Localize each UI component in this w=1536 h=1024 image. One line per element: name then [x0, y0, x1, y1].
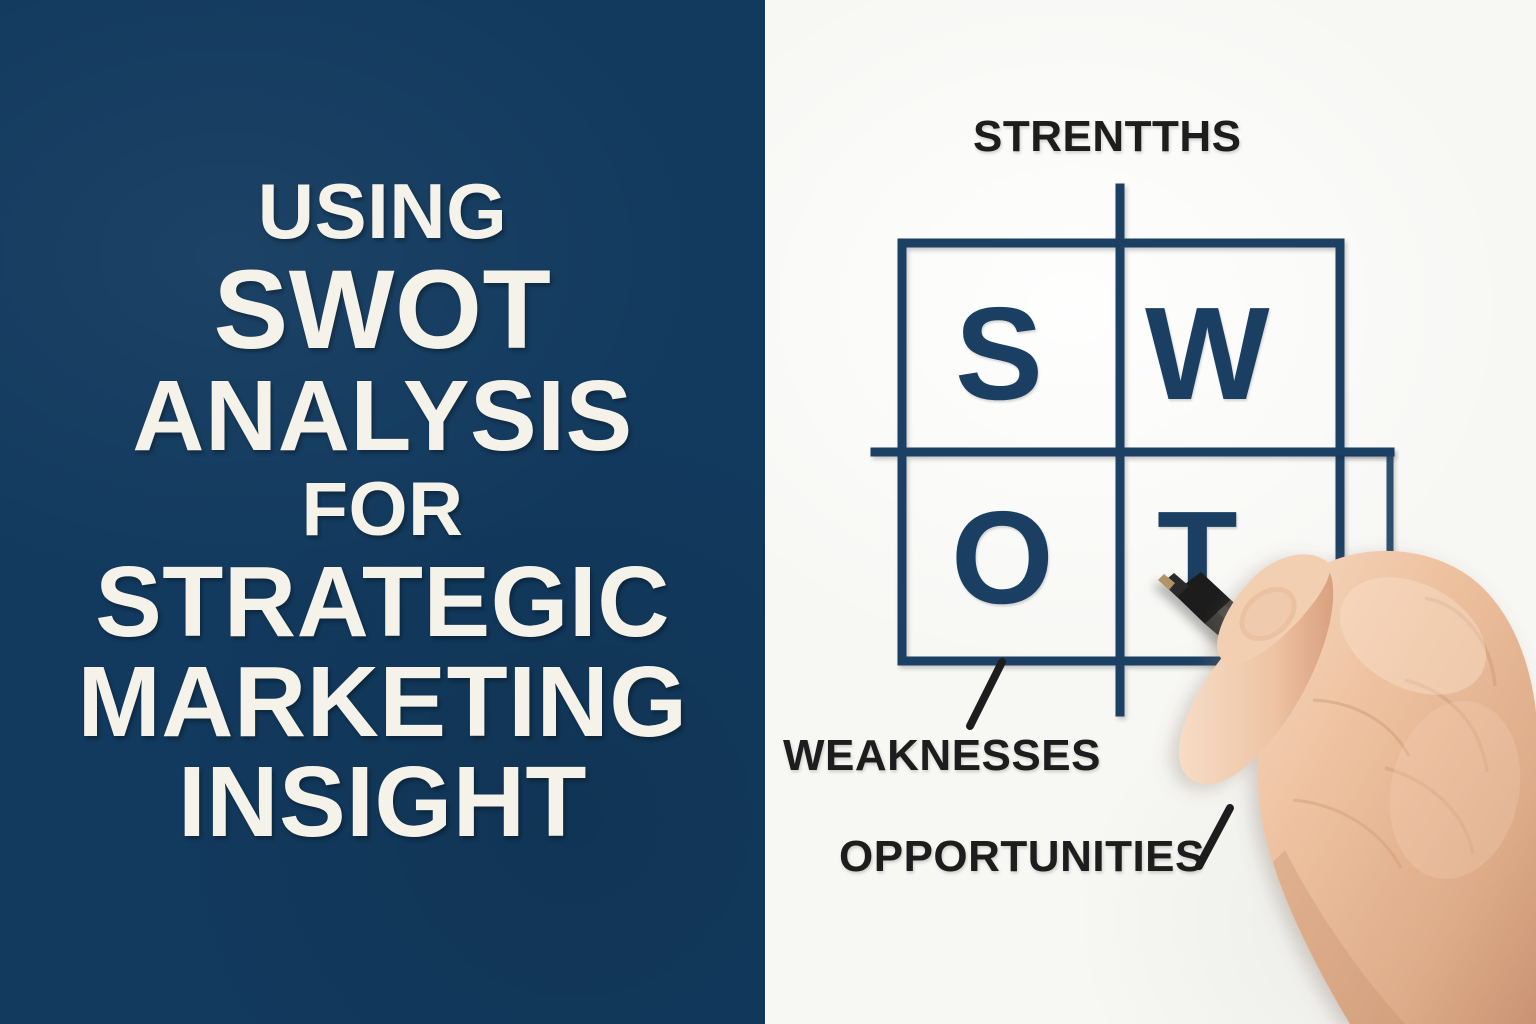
- title-line-using: USING: [258, 173, 508, 249]
- title-line-insight: INSIGHT: [178, 753, 587, 851]
- title-line-strategic: STRATEGIC: [95, 553, 670, 651]
- swot-letter-o: O: [951, 492, 1054, 624]
- callout-weaknesses: WEAKNESSES: [783, 731, 1101, 781]
- swot-letter-w: W: [1145, 288, 1270, 420]
- title-line-for: FOR: [302, 473, 464, 547]
- swot-offset-frame: [1340, 452, 1390, 640]
- leader-line-weaknesses: [970, 662, 1002, 726]
- swot-letter-s: S: [955, 288, 1043, 420]
- callout-strengths: STRENTTHS: [973, 112, 1242, 162]
- title-line-analysis: ANALYSIS: [132, 367, 632, 465]
- title-line-swot: SWOT: [214, 255, 552, 365]
- swot-letter-t: T: [1157, 492, 1238, 624]
- title-block: USING SWOT ANALYSIS FOR STRATEGIC MARKET…: [0, 0, 765, 1024]
- callout-opportunities: OPPORTUNITIES: [839, 832, 1205, 882]
- right-diagram-panel: S W O T STRENTTHS WEAKNESSES OPPORTUNITI…: [765, 0, 1536, 1024]
- title-line-marketing: MARKETING: [77, 653, 687, 751]
- banner-canvas: USING SWOT ANALYSIS FOR STRATEGIC MARKET…: [0, 0, 1536, 1024]
